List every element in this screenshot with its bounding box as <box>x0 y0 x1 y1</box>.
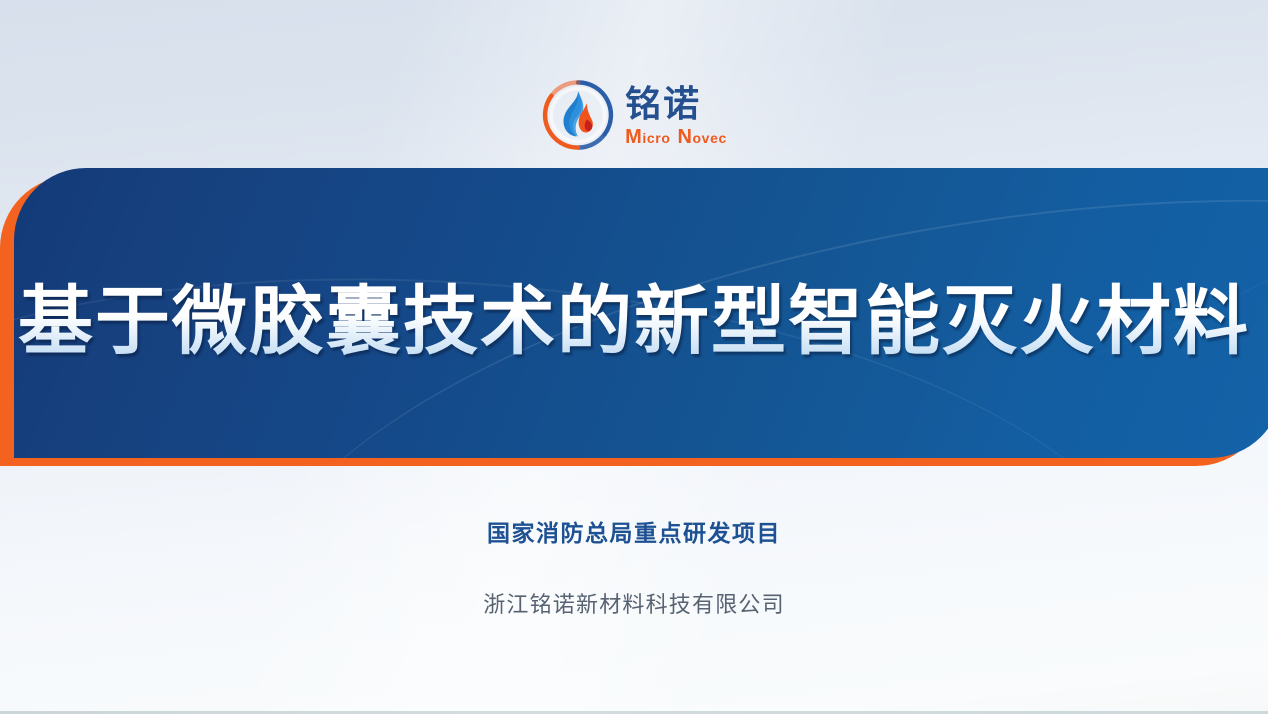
logo-brand-english-ovec: ovec <box>693 131 727 145</box>
company-logo: 铭诺 MicroNovec <box>0 72 1268 158</box>
flame-droplet-in-ring-logo-icon <box>541 78 615 152</box>
project-label: 国家消防总局重点研发项目 <box>0 520 1268 548</box>
logo-brand-english-icro: icro <box>642 131 670 145</box>
subtitle-block: 国家消防总局重点研发项目 浙江铭诺新材料科技有限公司 <box>0 520 1268 618</box>
title-banner: 基于微胶囊技术的新型智能灭火材料 <box>0 176 1268 466</box>
slide-main-title: 基于微胶囊技术的新型智能灭火材料 <box>18 282 1250 361</box>
company-name: 浙江铭诺新材料科技有限公司 <box>0 592 1268 618</box>
logo-wordmark: 铭诺 MicroNovec <box>625 84 727 147</box>
presentation-title-slide: 铭诺 MicroNovec 基于微胶囊技术的新型智能灭火材料 国家消防总局重点研… <box>0 0 1268 714</box>
logo-brand-english-m: M <box>625 127 642 147</box>
title-container: 基于微胶囊技术的新型智能灭火材料 <box>0 176 1268 466</box>
logo-brand-chinese: 铭诺 <box>625 86 701 122</box>
logo-brand-english-n: N <box>677 127 692 147</box>
logo-brand-english: MicroNovec <box>625 127 727 147</box>
